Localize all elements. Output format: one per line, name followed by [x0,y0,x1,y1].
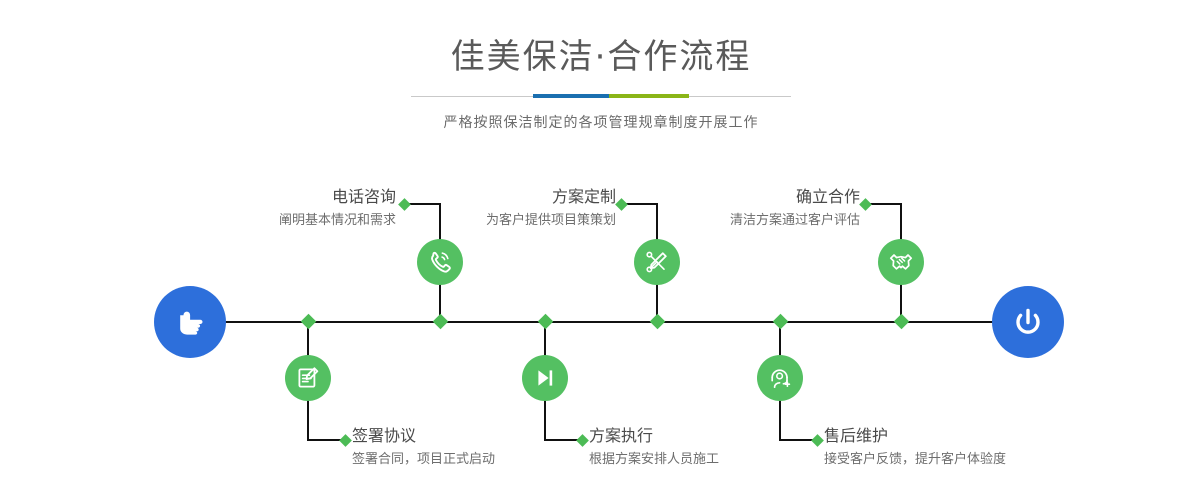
step-icon-1[interactable] [417,239,463,285]
axis-diamond [650,314,666,330]
step-icon-3[interactable] [634,239,680,285]
timeline-end-node[interactable] [992,286,1064,358]
connector-tip-step2 [339,434,352,447]
play-skip-icon [532,365,558,391]
connector-tip-step4 [576,434,589,447]
axis-diamond [538,314,554,330]
scissors-pencil-icon [644,249,670,275]
pointing-finger-icon [170,302,210,342]
axis-diamond [894,314,910,330]
step-desc-2: 签署合同，项目正式启动 [352,449,495,471]
step-icon-2[interactable] [285,355,331,401]
connector-tip-step6 [811,434,824,447]
timeline-axis [225,321,1000,323]
step-desc-3: 为客户提供项目策策划 [486,210,616,232]
step-title-1: 电话咨询 [279,186,396,208]
step-desc-1: 阐明基本情况和需求 [279,210,396,232]
step-label-4: 方案执行 根据方案安排人员施工 [589,425,719,471]
step-title-6: 售后维护 [824,425,1006,447]
headset-support-icon [767,365,793,391]
process-flow-infographic: 佳美保洁·合作流程 严格按照保洁制定的各项管理规章制度开展工作 [0,0,1202,502]
connector-tip-step1 [398,198,411,211]
step-label-3: 方案定制 为客户提供项目策策划 [486,186,616,232]
step-title-4: 方案执行 [589,425,719,447]
step-desc-5: 清洁方案通过客户评估 [730,210,860,232]
power-icon [1008,302,1048,342]
step-icon-4[interactable] [522,355,568,401]
phone-call-icon [427,249,453,275]
step-icon-5[interactable] [878,239,924,285]
axis-diamond [773,314,789,330]
document-pen-icon [295,365,321,391]
axis-diamond [433,314,449,330]
step-label-5: 确立合作 清洁方案通过客户评估 [730,186,860,232]
timeline: 电话咨询 阐明基本情况和需求 签署协议 签署合同，项目正式启动 [0,0,1202,502]
timeline-start-node[interactable] [154,286,226,358]
connector-tip-step5 [859,198,872,211]
step-label-1: 电话咨询 阐明基本情况和需求 [279,186,396,232]
step-title-5: 确立合作 [730,186,860,208]
step-icon-6[interactable] [757,355,803,401]
step-desc-4: 根据方案安排人员施工 [589,449,719,471]
step-label-2: 签署协议 签署合同，项目正式启动 [352,425,495,471]
step-label-6: 售后维护 接受客户反馈，提升客户体验度 [824,425,1006,471]
axis-diamond [301,314,317,330]
step-desc-6: 接受客户反馈，提升客户体验度 [824,449,1006,471]
handshake-icon [888,249,914,275]
step-title-3: 方案定制 [486,186,616,208]
step-title-2: 签署协议 [352,425,495,447]
connector-tip-step3 [615,198,628,211]
